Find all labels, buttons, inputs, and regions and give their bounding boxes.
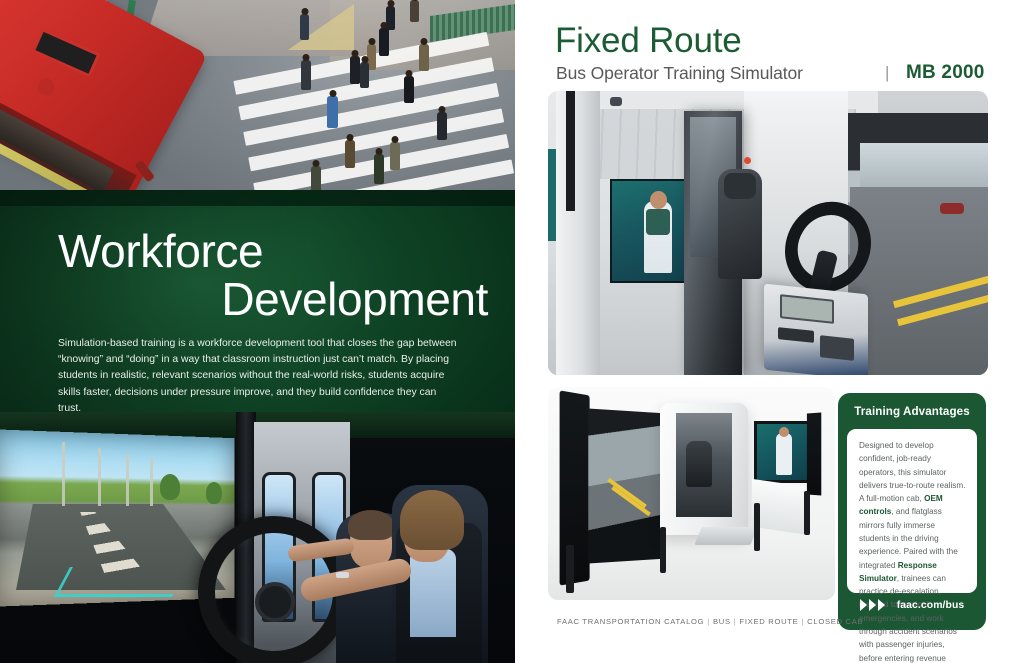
right-side-panel (752, 479, 810, 535)
breadcrumb-separator: | (704, 617, 713, 626)
virtual-car (940, 203, 964, 214)
breadcrumb-item: FAAC TRANSPORTATION CATALOG (557, 617, 704, 626)
breadcrumb-item: FIXED ROUTE (739, 617, 798, 626)
display-passenger-head (779, 427, 789, 437)
wiper-overlay (54, 567, 188, 597)
pedestrian (379, 28, 389, 56)
breadcrumb-item: BUS (713, 617, 731, 626)
workforce-body-text: Simulation-based training is a workforce… (58, 336, 462, 417)
cab-left-pillar (556, 91, 600, 375)
trainee-hair (400, 490, 464, 550)
farebox-keypad (820, 335, 854, 361)
pedestrian (301, 60, 311, 90)
breadcrumb: FAAC TRANSPORTATION CATALOG|BUS|FIXED RO… (557, 617, 863, 626)
steering-hub (255, 582, 295, 622)
ceiling-camera (610, 97, 622, 106)
catalog-page: Workforce Development Simulation-based t… (0, 0, 1024, 663)
photo-aerial-crosswalk (0, 0, 515, 196)
advantage-text-run: Designed to develop confident, job-ready… (859, 441, 965, 503)
workforce-title-line2: Development (58, 276, 488, 324)
pedestrian (374, 154, 384, 184)
pedestrian (410, 0, 419, 22)
display-passenger-figure (776, 433, 792, 475)
utility-pole (126, 454, 129, 506)
virtual-tree (206, 482, 222, 504)
virtual-sky (860, 143, 988, 189)
cab-seat (686, 441, 712, 487)
breadcrumb-separator: | (798, 617, 807, 626)
forward-visual-display (588, 409, 663, 564)
training-advantages-body-panel: Designed to develop confident, job-ready… (847, 429, 977, 593)
pedestrian (404, 76, 414, 103)
training-advantages-title: Training Advantages (838, 405, 986, 418)
advantage-text-run: , trainees can practice de-escalation, r… (859, 574, 957, 663)
workforce-title: Workforce Development (58, 228, 488, 324)
indicator-light (744, 157, 751, 164)
trainee-shirt (410, 549, 456, 637)
website-footer[interactable]: faac.com/bus (838, 599, 986, 611)
training-advantages-body: Designed to develop confident, job-ready… (859, 439, 967, 663)
instructor-hair (348, 510, 394, 540)
seat-headrest (724, 173, 756, 199)
left-wing-display (560, 390, 590, 585)
support-frame (804, 491, 810, 535)
photo-cab-operators (0, 412, 515, 663)
utility-pole (150, 458, 153, 506)
model-number: MB 2000 (906, 62, 985, 84)
workforce-title-line1: Workforce (58, 225, 263, 277)
pedestrian (345, 140, 355, 168)
utility-pole (98, 448, 101, 506)
pedestrian (419, 44, 429, 71)
display-passenger-vest (646, 209, 670, 235)
website-url[interactable]: faac.com/bus (897, 600, 965, 611)
right-panel: Fixed Route Bus Operator Training Simula… (515, 0, 1024, 663)
curb-ramp (288, 4, 354, 50)
support-frame (660, 527, 666, 573)
cab-left-pillar-dark (566, 91, 575, 211)
display-passenger-head (650, 191, 667, 209)
entry-step (694, 527, 757, 545)
support-frame (754, 503, 760, 551)
right-wing-display (807, 412, 821, 495)
utility-pole (62, 442, 65, 506)
pedestrian (327, 96, 338, 128)
photo-simulator-cab-interior (548, 91, 988, 375)
breadcrumb-item: CLOSED CAB (807, 617, 863, 626)
wristwatch (336, 572, 349, 578)
header-divider: | (885, 63, 889, 83)
pedestrian (390, 142, 400, 170)
pedestrian (360, 62, 369, 88)
pedestrian (350, 56, 360, 84)
training-advantages-card: Training Advantages Designed to develop … (838, 393, 986, 630)
page-subtitle: Bus Operator Training Simulator (556, 63, 803, 84)
left-panel: Workforce Development Simulation-based t… (0, 0, 515, 663)
virtual-tree (160, 474, 180, 500)
page-title: Fixed Route (555, 21, 742, 61)
chevron-right-icon (860, 599, 885, 611)
support-frame (566, 545, 574, 593)
pedestrian (437, 112, 447, 140)
pedestrian (300, 14, 309, 40)
photo-simulator-rig-exterior (548, 387, 835, 600)
